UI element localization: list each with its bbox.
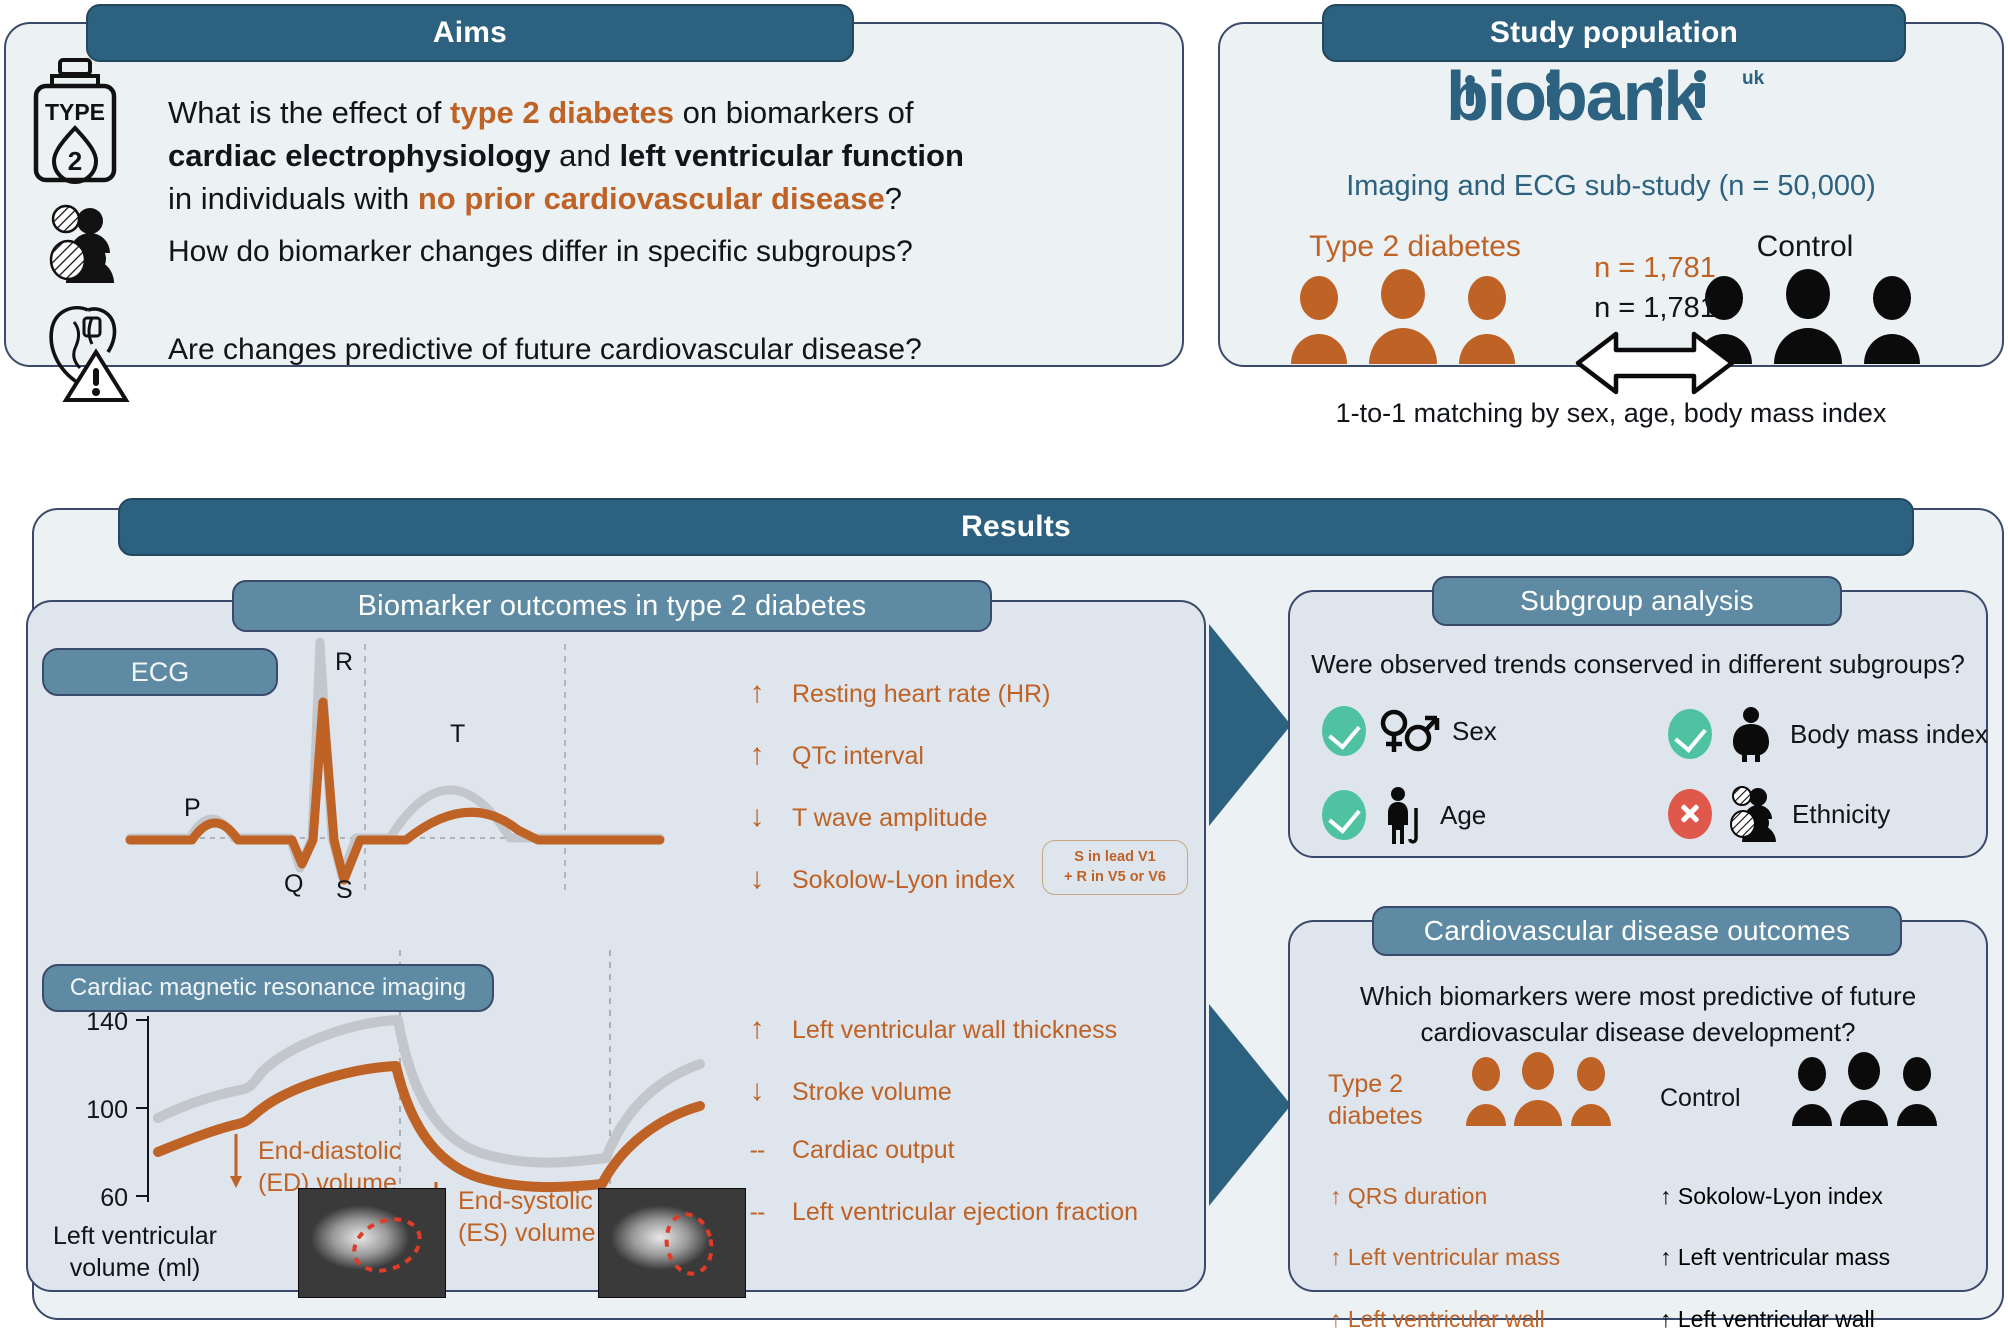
cmr-outcome-row-3: -- Left ventricular ejection fraction <box>748 1198 1138 1227</box>
q1-type2diabetes: type 2 diabetes <box>450 95 674 130</box>
cmr-outcome-arrow-2: -- <box>748 1136 766 1165</box>
q1-seg5: and <box>550 138 619 173</box>
cvd-right-group-label: Control <box>1660 1082 1741 1114</box>
ecg-outcome-arrow-3: ↓ <box>748 862 766 896</box>
cvd-question-line-2: cardiovascular disease development? <box>1288 1016 1988 1049</box>
results-title: Results <box>961 510 1071 544</box>
ecg-outcome-label-3: Sokolow-Lyon index <box>792 866 1015 895</box>
status-yes-icon <box>1322 790 1366 840</box>
subgroup-item-sex: Sex <box>1322 706 1497 756</box>
cmr-outcome-label-0: Left ventricular wall thickness <box>792 1016 1117 1045</box>
bottle-number-text: 2 <box>68 146 82 176</box>
subgroup-item-ethnicity: Ethnicity <box>1668 786 1890 842</box>
cmr-outcome-label-1: Stroke volume <box>792 1078 952 1107</box>
biomarker-outcomes-title: Biomarker outcomes in type 2 diabetes <box>358 590 867 623</box>
cvd-right-outcome-list: ↑ Sokolow-Lyon index ↑ Left ventricular … <box>1660 1150 1990 1330</box>
cmr-outcome-arrow-3: -- <box>748 1198 766 1227</box>
matching-double-arrow-icon <box>1530 330 1780 396</box>
cmr-pill: Cardiac magnetic resonance imaging <box>42 964 494 1012</box>
subgroup-label-bmi: Body mass index <box>1790 719 1988 750</box>
substudy-text: Imaging and ECG sub-study (n = 50,000) <box>1218 168 2004 205</box>
ecg-outcome-arrow-0: ↑ <box>748 676 766 710</box>
sokolow-note-line-1: S in lead V1 <box>1052 848 1178 868</box>
ecg-label-Q: Q <box>284 870 303 898</box>
subgroup-question: Were observed trends conserved in differ… <box>1288 648 1988 681</box>
subgroup-analysis-banner: Subgroup analysis <box>1432 576 1842 626</box>
heart-warning-icon <box>34 300 134 400</box>
ecg-label-T: T <box>450 720 465 748</box>
obese-person-icon <box>1724 706 1778 762</box>
ecg-outcome-label-1: QTc interval <box>792 742 924 771</box>
cmr-outcome-label-3: Left ventricular ejection fraction <box>792 1198 1138 1227</box>
aims-question-3: Are changes predictive of future cardiov… <box>168 330 1168 370</box>
lv-axis-label-line-1: Left ventricular <box>40 1220 230 1252</box>
svg-text:uk: uk <box>1742 68 1765 89</box>
ed-volume-line-1: End-diastolic <box>258 1135 401 1167</box>
subgroup-label-sex: Sex <box>1452 716 1497 747</box>
cmr-outcome-arrow-1: ↓ <box>748 1074 766 1108</box>
n-orange: n = 1,781 <box>1530 250 1780 287</box>
ecg-outcome-row-1: ↑ QTc interval <box>748 738 924 772</box>
cmr-outcome-row-0: ↑ Left ventricular wall thickness <box>748 1012 1117 1046</box>
n-black: n = 1,781 <box>1530 290 1780 327</box>
cvd-type2-people-icon <box>1464 1058 1614 1126</box>
aims-banner: Aims <box>86 4 854 62</box>
cvd-right-item-0: ↑ Sokolow-Lyon index <box>1660 1181 1990 1212</box>
ecg-outcome-row-2: ↓ T wave amplitude <box>748 800 987 834</box>
subgroup-item-age: Age <box>1322 786 1486 844</box>
aims-question-1-line1: What is the effect of type 2 diabetes on… <box>168 92 1168 134</box>
cvd-left-outcome-list: ↑ QRS duration ↑ Left ventricular mass ↑… <box>1330 1150 1650 1330</box>
lv-axis-label: Left ventricular volume (ml) <box>40 1220 230 1284</box>
ecg-outcome-arrow-1: ↑ <box>748 738 766 772</box>
diverse-people-icon <box>1724 786 1780 842</box>
subgroup-label-ethnicity: Ethnicity <box>1792 799 1890 830</box>
mri-thumbnail-ed <box>298 1188 446 1298</box>
q1-seg1: What is the effect of <box>168 95 450 130</box>
status-yes-icon <box>1668 709 1712 759</box>
aims-question-1-line2: cardiac electrophysiology and left ventr… <box>168 135 1178 177</box>
mri-thumbnail-es <box>598 1188 746 1298</box>
es-volume-annotation: End-systolic (ES) volume <box>458 1185 596 1249</box>
ecg-outcome-row-0: ↑ Resting heart rate (HR) <box>748 676 1050 710</box>
cvd-left-group-line-1: Type 2 <box>1328 1068 1423 1100</box>
svg-text:biobank: biobank <box>1446 57 1702 135</box>
type2-people-icon <box>1285 278 1525 364</box>
q1-no-prior-cvd: no prior cardiovascular disease <box>418 181 885 216</box>
elderly-person-cane-icon <box>1378 786 1428 844</box>
status-yes-icon <box>1322 706 1366 756</box>
cvd-question-line-1: Which biomarkers were most predictive of… <box>1288 980 1988 1013</box>
q1-seg9: ? <box>885 181 902 216</box>
study-population-title: Study population <box>1490 16 1738 50</box>
lv-ytick-100: 100 <box>86 1096 128 1124</box>
q1-seg7: in individuals with <box>168 181 418 216</box>
cvd-left-group-line-2: diabetes <box>1328 1100 1423 1132</box>
aims-title: Aims <box>433 16 507 50</box>
cvd-control-people-icon <box>1790 1058 1940 1126</box>
q1-seg3: on biomarkers of <box>674 95 914 130</box>
study-population-banner: Study population <box>1322 4 1906 62</box>
cvd-right-item-1: ↑ Left ventricular mass <box>1660 1242 1990 1273</box>
ecg-pill: ECG <box>42 648 278 696</box>
subgroup-item-bmi: Body mass index <box>1668 706 1988 762</box>
sex-symbols-icon <box>1378 706 1440 756</box>
lv-ytick-140: 140 <box>86 1008 128 1036</box>
cvd-outcomes-title: Cardiovascular disease outcomes <box>1424 915 1850 947</box>
ecg-label-R: R <box>335 648 353 676</box>
cmr-outcome-row-1: ↓ Stroke volume <box>748 1074 952 1108</box>
type-2-diabetes-bottle-icon: TYPE 2 <box>22 58 132 183</box>
ecg-outcome-arrow-2: ↓ <box>748 800 766 834</box>
biomarker-outcomes-banner: Biomarker outcomes in type 2 diabetes <box>232 580 992 632</box>
cmr-pill-label: Cardiac magnetic resonance imaging <box>70 974 466 1002</box>
cvd-right-item-2: ↑ Left ventricular wall <box>1660 1304 1990 1330</box>
cmr-outcome-row-2: -- Cardiac output <box>748 1136 955 1165</box>
cvd-left-item-1: ↑ Left ventricular mass <box>1330 1242 1650 1273</box>
cmr-outcome-label-2: Cardiac output <box>792 1136 955 1165</box>
ecg-outcome-row-3: ↓ Sokolow-Lyon index <box>748 862 1015 896</box>
arrow-to-subgroup-panel <box>1205 620 1295 830</box>
matching-text: 1-to-1 matching by sex, age, body mass i… <box>1218 396 2004 431</box>
q1-cardiac-ep: cardiac electrophysiology <box>168 138 550 173</box>
uk-biobank-logo: biobank uk <box>1442 58 1782 134</box>
lv-axis-label-line-2: volume (ml) <box>40 1252 230 1284</box>
arrow-to-cvd-panel <box>1205 1000 1295 1210</box>
sokolow-note-line-2: + R in V5 or V6 <box>1052 868 1178 888</box>
people-group-icon <box>40 205 126 283</box>
subgroup-analysis-title: Subgroup analysis <box>1520 585 1754 617</box>
es-volume-line-1: End-systolic <box>458 1185 596 1217</box>
ecg-pill-label: ECG <box>131 657 190 688</box>
q1-lv-function: left ventricular function <box>619 138 963 173</box>
lv-ytick-60: 60 <box>100 1184 128 1212</box>
status-no-icon <box>1668 789 1712 839</box>
subgroup-label-age: Age <box>1440 800 1486 831</box>
bottle-type-text: TYPE <box>45 99 105 125</box>
ecg-outcome-label-0: Resting heart rate (HR) <box>792 680 1050 709</box>
ecg-label-S: S <box>336 876 353 904</box>
results-banner: Results <box>118 498 1914 556</box>
ecg-outcome-label-2: T wave amplitude <box>792 804 987 833</box>
cvd-outcomes-banner: Cardiovascular disease outcomes <box>1372 906 1902 956</box>
cmr-outcome-arrow-0: ↑ <box>748 1012 766 1046</box>
es-volume-line-2: (ES) volume <box>458 1217 596 1249</box>
aims-question-1-line3: in individuals with no prior cardiovascu… <box>168 178 1178 220</box>
cvd-left-item-0: ↑ QRS duration <box>1330 1181 1650 1212</box>
cvd-left-item-2: ↑ Left ventricular wall <box>1330 1304 1650 1330</box>
sokolow-lyon-definition-note: S in lead V1 + R in V5 or V6 <box>1042 840 1188 895</box>
ecg-label-P: P <box>184 794 201 822</box>
cvd-left-group-label: Type 2 diabetes <box>1328 1068 1423 1132</box>
aims-question-2: How do biomarker changes differ in speci… <box>168 232 1168 272</box>
